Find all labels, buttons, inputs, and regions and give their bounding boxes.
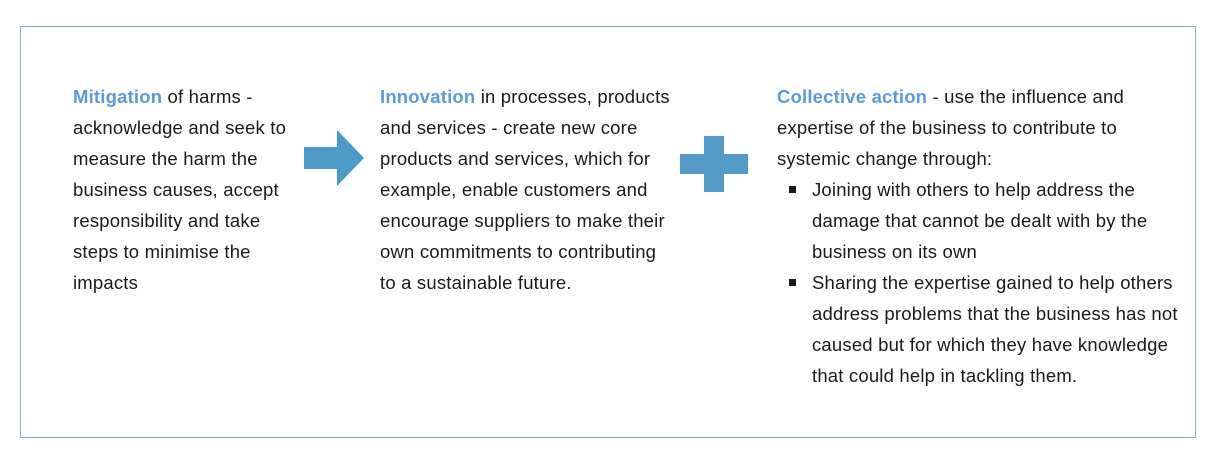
right-arrow-glyph xyxy=(304,130,364,186)
list-item: Sharing the expertise gained to help oth… xyxy=(777,267,1189,391)
column-innovation-lead: Innovation xyxy=(380,86,475,107)
column-collective-action: Collective action - use the influence an… xyxy=(777,81,1189,391)
list-item-label: Joining with others to help address the … xyxy=(812,179,1147,262)
plus-glyph xyxy=(680,136,748,192)
column-innovation-body: in processes, products and services - cr… xyxy=(380,86,670,293)
square-bullet-icon xyxy=(789,279,796,286)
diagram-frame: Mitigation of harms - acknowledge and se… xyxy=(20,26,1196,438)
column-collective-action-intro: Collective action - use the influence an… xyxy=(777,81,1189,174)
list-item-label: Sharing the expertise gained to help oth… xyxy=(812,272,1178,386)
column-innovation: Innovation in processes, products and se… xyxy=(380,81,675,298)
column-mitigation: Mitigation of harms - acknowledge and se… xyxy=(73,81,298,298)
collective-action-bullet-list: Joining with others to help address the … xyxy=(777,174,1189,391)
column-mitigation-body: of harms - acknowledge and seek to measu… xyxy=(73,86,286,293)
right-arrow-icon xyxy=(304,130,364,186)
list-item: Joining with others to help address the … xyxy=(777,174,1189,267)
diagram-canvas: Mitigation of harms - acknowledge and se… xyxy=(0,0,1215,457)
column-collective-action-lead: Collective action xyxy=(777,86,927,107)
square-bullet-icon xyxy=(789,186,796,193)
plus-icon xyxy=(680,136,748,192)
column-mitigation-lead: Mitigation xyxy=(73,86,162,107)
